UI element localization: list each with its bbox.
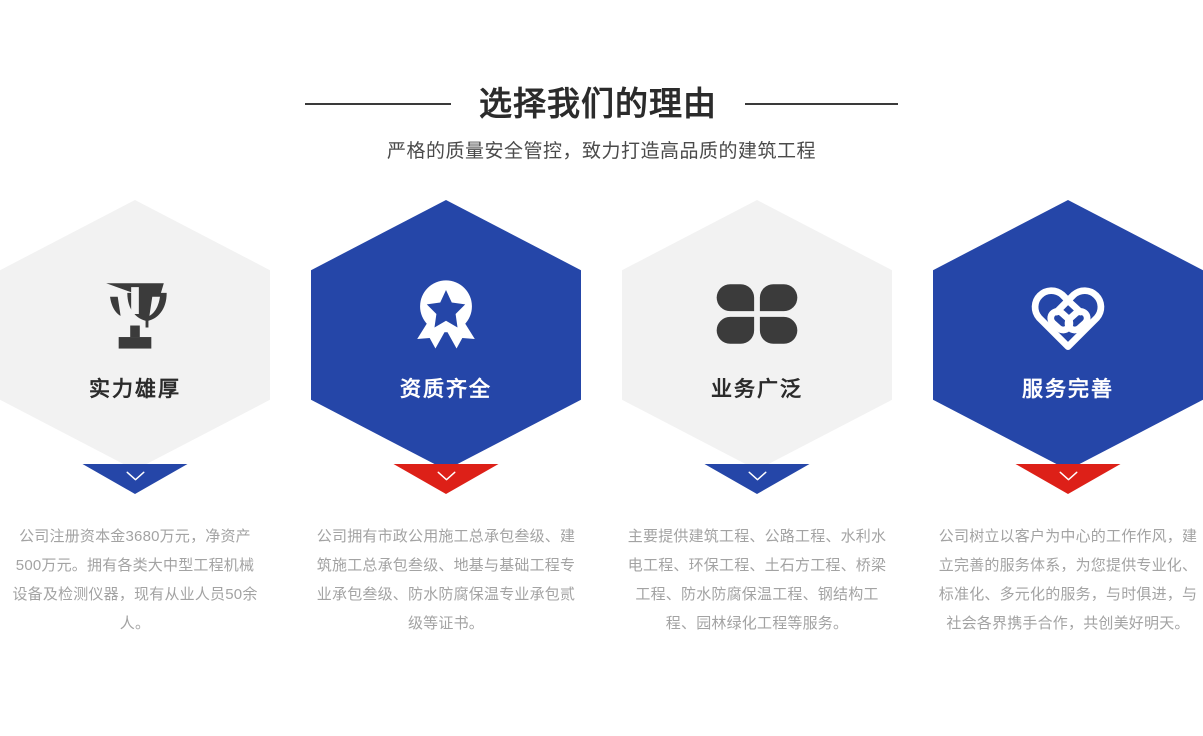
- hexagon-1[interactable]: 实力雄厚: [0, 200, 270, 470]
- feature-desc-1: 公司注册资本金3680万元，净资产500万元。拥有各类大中型工程机械设备及检测仪…: [6, 522, 264, 638]
- hex-stack-4: 服务完善: [933, 200, 1203, 500]
- chevron-down-icon: [124, 469, 146, 483]
- section-heading: 选择我们的理由 严格的质量安全管控，致力打造高品质的建筑工程: [0, 82, 1203, 166]
- feature-card-3[interactable]: 业务广泛 主要提供建筑工程、公路工程、水利水电工程、环保工程、土石方工程、桥梁工…: [622, 200, 892, 500]
- feature-card-4[interactable]: 服务完善 公司树立以客户为中心的工作作风，建立完善的服务体系，为您提供专业化、标…: [933, 200, 1203, 500]
- arrow-triangle-2[interactable]: [394, 464, 499, 494]
- feature-title-2: 资质齐全: [400, 376, 492, 404]
- four-petal-clover-icon: [709, 266, 805, 362]
- medal-star-icon: [398, 266, 494, 362]
- page-subtitle: 严格的质量安全管控，致力打造高品质的建筑工程: [387, 138, 816, 166]
- hexagon-3[interactable]: 业务广泛: [622, 200, 892, 470]
- feature-title-3: 业务广泛: [711, 376, 803, 404]
- feature-title-1: 实力雄厚: [89, 376, 181, 404]
- hex-stack-3: 业务广泛: [622, 200, 892, 500]
- page-title: 选择我们的理由: [479, 82, 717, 126]
- feature-title-4: 服务完善: [1022, 376, 1114, 404]
- hex-stack-2: 资质齐全: [311, 200, 581, 500]
- why-choose-us-section: 选择我们的理由 严格的质量安全管控，致力打造高品质的建筑工程: [0, 0, 1203, 736]
- feature-card-list: 实力雄厚 公司注册资本金3680万元，净资产500万元。拥有各类大中型工程机械设…: [0, 200, 1203, 500]
- title-rule-right: [745, 103, 898, 105]
- chevron-down-icon: [1057, 469, 1079, 483]
- chevron-down-icon: [435, 469, 457, 483]
- feature-desc-2: 公司拥有市政公用施工总承包叁级、建筑施工总承包叁级、地基与基础工程专业承包叁级、…: [311, 522, 581, 638]
- hexagon-2[interactable]: 资质齐全: [311, 200, 581, 470]
- title-row: 选择我们的理由: [305, 82, 898, 126]
- title-rule-left: [305, 103, 451, 105]
- trophy-icon: [87, 266, 183, 362]
- heart-handshake-icon: [1020, 266, 1116, 362]
- feature-desc-3: 主要提供建筑工程、公路工程、水利水电工程、环保工程、土石方工程、桥梁工程、防水防…: [622, 522, 892, 638]
- hexagon-4[interactable]: 服务完善: [933, 200, 1203, 470]
- feature-desc-4: 公司树立以客户为中心的工作作风，建立完善的服务体系，为您提供专业化、标准化、多元…: [933, 522, 1203, 638]
- arrow-triangle-3[interactable]: [705, 464, 810, 494]
- feature-card-2[interactable]: 资质齐全 公司拥有市政公用施工总承包叁级、建筑施工总承包叁级、地基与基础工程专业…: [311, 200, 581, 500]
- hex-stack-1: 实力雄厚: [0, 200, 270, 500]
- chevron-down-icon: [746, 469, 768, 483]
- arrow-triangle-4[interactable]: [1016, 464, 1121, 494]
- feature-card-1[interactable]: 实力雄厚 公司注册资本金3680万元，净资产500万元。拥有各类大中型工程机械设…: [0, 200, 270, 500]
- arrow-triangle-1[interactable]: [83, 464, 188, 494]
